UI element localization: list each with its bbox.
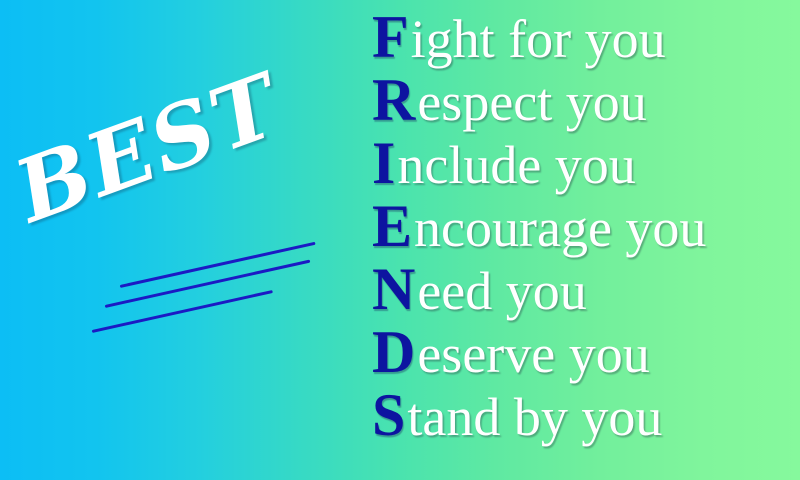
acrostic-block: Fight for you Respect you Include you En…	[372, 0, 800, 480]
acrostic-text-s: tand by you	[407, 387, 662, 447]
underline-stroke-3	[92, 290, 273, 333]
acrostic-text-d: eserve you	[417, 324, 649, 384]
acrostic-text-r: espect you	[417, 72, 646, 132]
best-badge-block: BEST	[0, 0, 370, 480]
acrostic-initial-s: S	[372, 382, 407, 448]
acrostic-line-r: Respect you	[372, 69, 800, 132]
underline-group	[0, 0, 370, 480]
acrostic-line-n: Need you	[372, 258, 800, 321]
acrostic-initial-e: E	[372, 193, 414, 259]
acrostic-text-n: eed you	[417, 261, 586, 321]
acrostic-text-e: ncourage you	[414, 198, 706, 258]
acrostic-initial-n: N	[372, 256, 417, 322]
acrostic-text-f: ight for you	[411, 9, 666, 69]
acrostic-line-s: Stand by you	[372, 384, 800, 447]
acrostic-text-i: nclude you	[397, 135, 635, 195]
acrostic-initial-d: D	[372, 319, 417, 385]
acrostic-line-d: Deserve you	[372, 321, 800, 384]
best-word-text: BEST	[6, 62, 291, 236]
acrostic-line-f: Fight for you	[372, 6, 800, 69]
underline-stroke-1	[120, 242, 316, 288]
poster-canvas: BEST Fight for you Respect you Include y…	[0, 0, 800, 480]
acrostic-line-e: Encourage you	[372, 195, 800, 258]
acrostic-line-i: Include you	[372, 132, 800, 195]
acrostic-initial-r: R	[372, 67, 417, 133]
acrostic-initial-f: F	[372, 4, 411, 70]
acrostic-initial-i: I	[372, 130, 397, 196]
underline-stroke-2	[105, 260, 311, 308]
